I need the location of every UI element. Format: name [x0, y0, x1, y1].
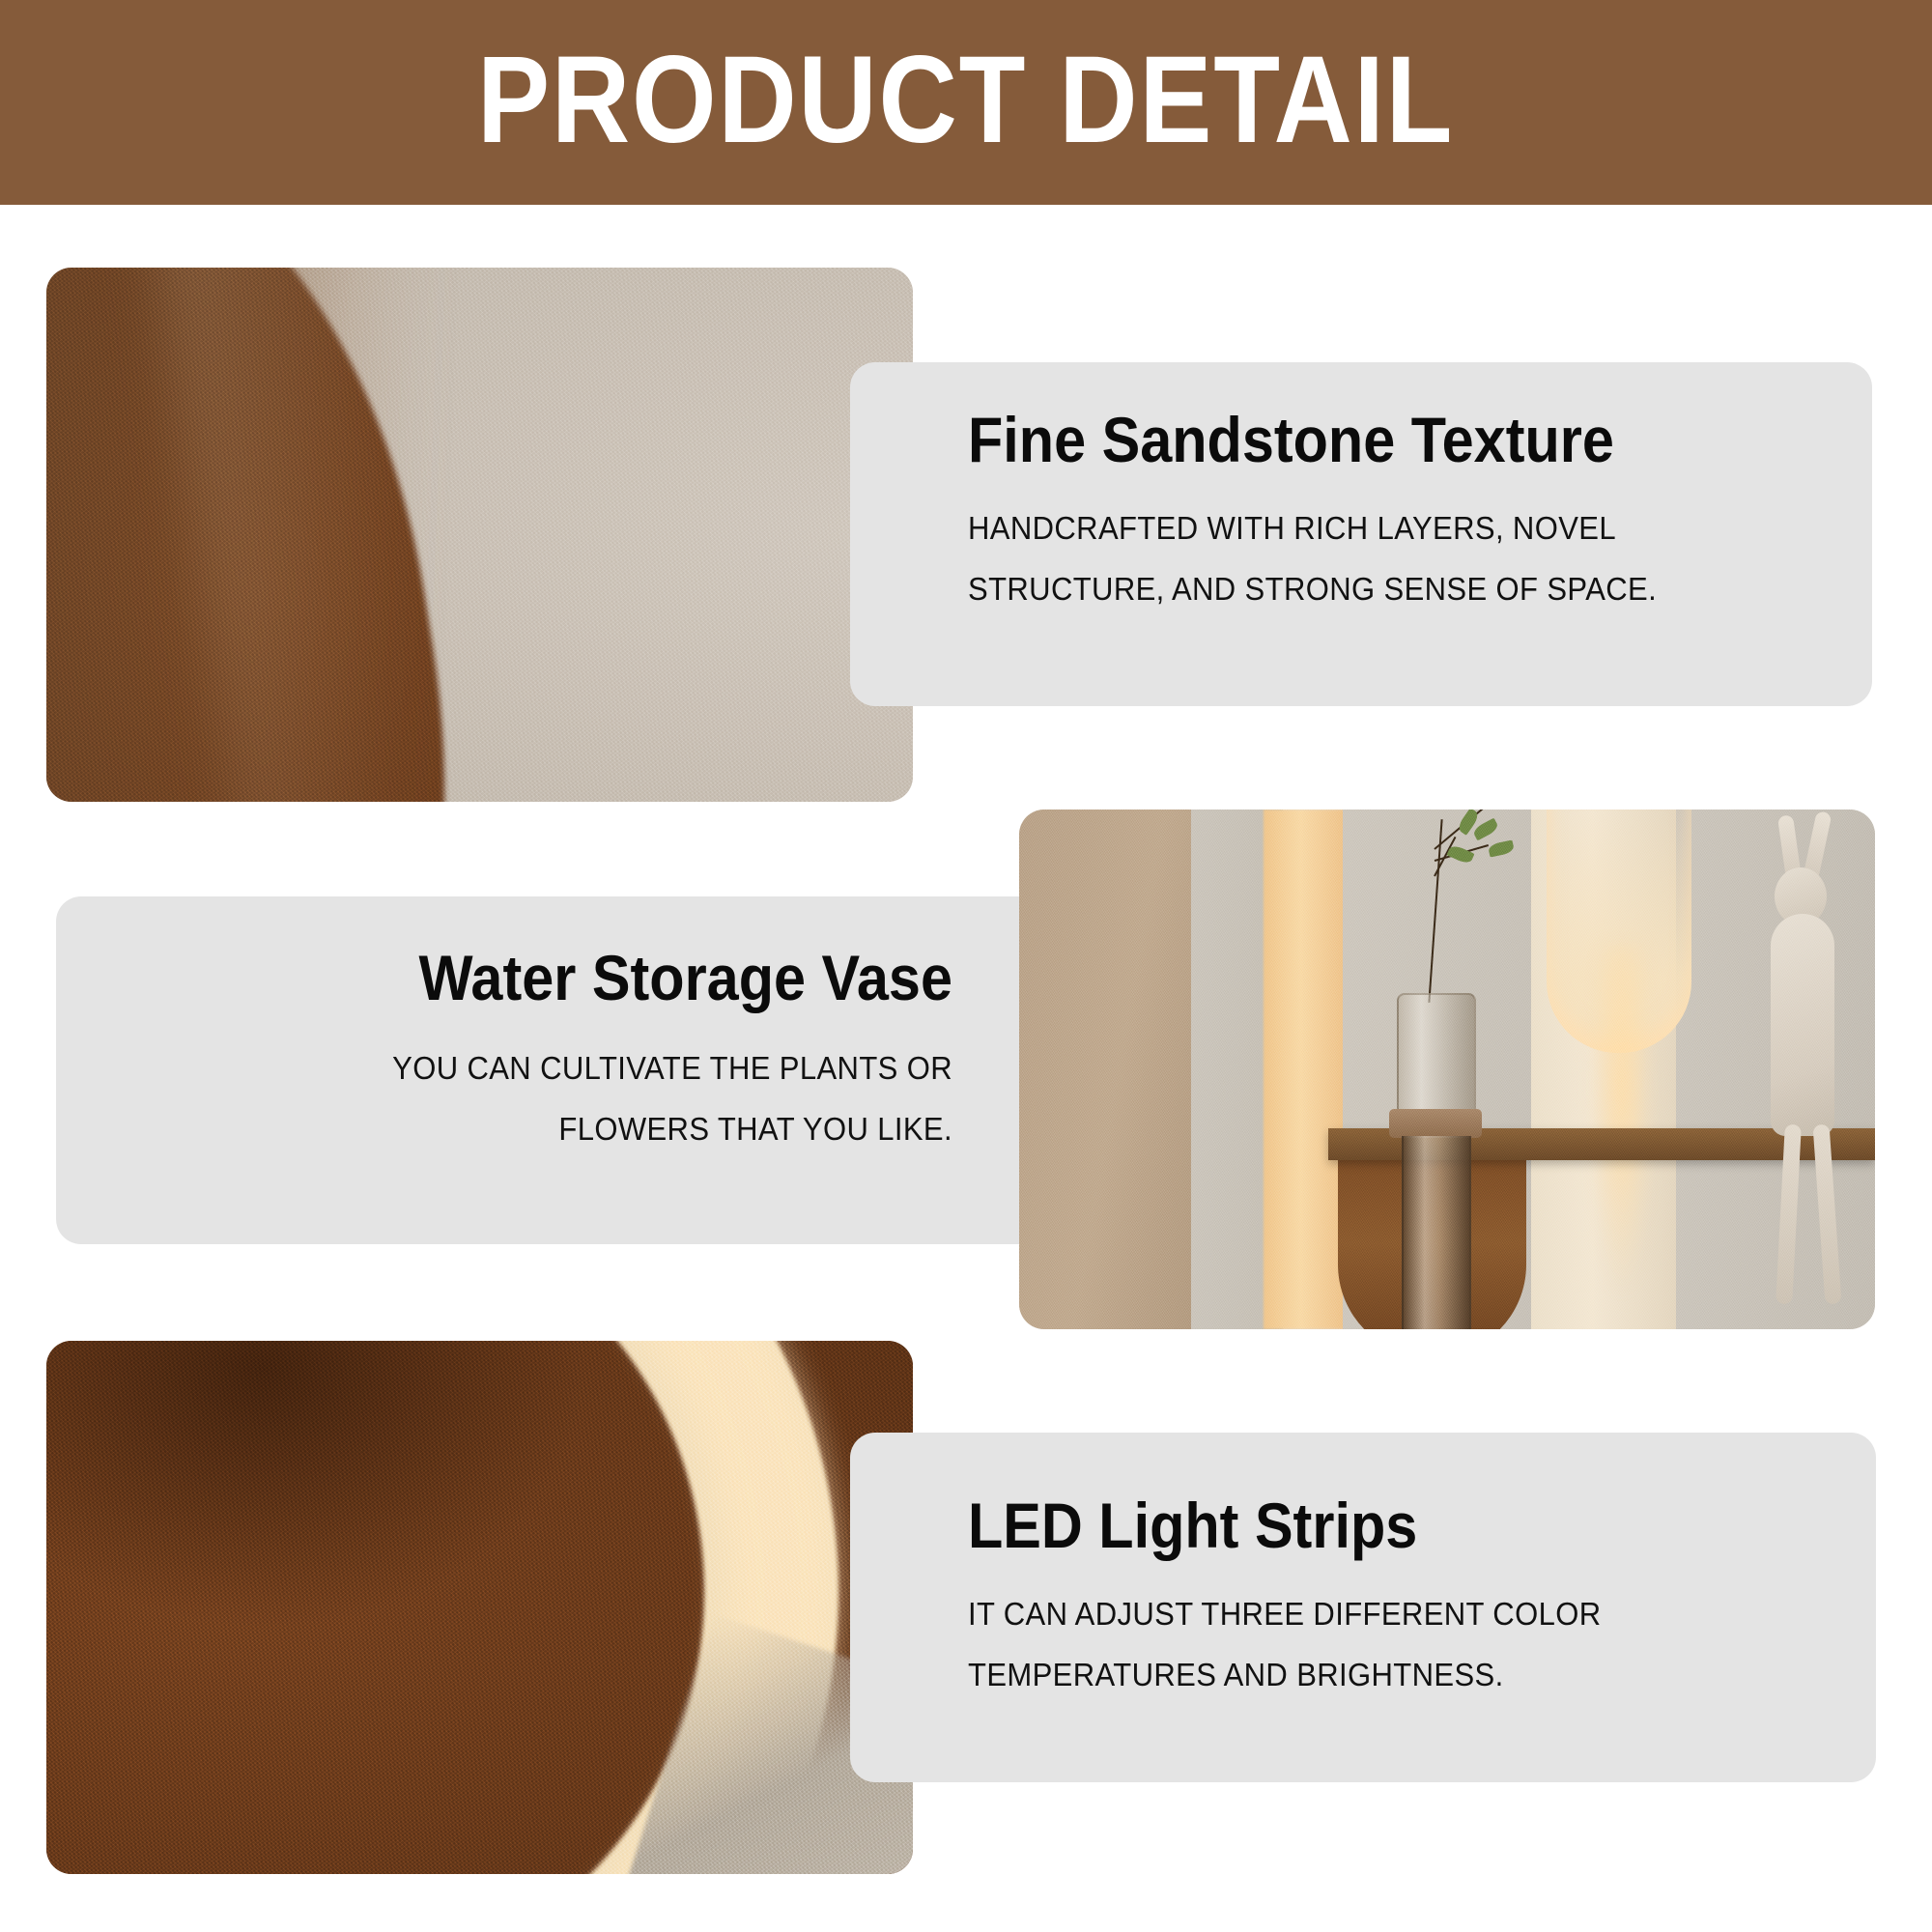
feature-panel-fine-sandstone-texture: Fine Sandstone Texture HANDCRAFTED WITH … [850, 362, 1872, 706]
feature-description-line-1: HANDCRAFTED WITH RICH LAYERS, NOVEL [968, 510, 1616, 546]
wall-texture-overlay [1019, 810, 1875, 1329]
feature-heading: LED Light Strips [968, 1492, 1735, 1559]
feature-image-led-light-strips [46, 1341, 913, 1874]
page-header-banner: PRODUCT DETAIL [0, 0, 1932, 205]
feature-description-line-2: TEMPERATURES AND BRIGHTNESS. [968, 1657, 1504, 1692]
feature-description: YOU CAN CULTIVATE THE PLANTS OR FLOWERS … [162, 1038, 952, 1159]
feature-heading: Water Storage Vase [196, 945, 952, 1011]
feature-description: IT CAN ADJUST THREE DIFFERENT COLOR TEMP… [968, 1584, 1769, 1705]
page-title: PRODUCT DETAIL [477, 39, 1454, 162]
feature-heading: Fine Sandstone Texture [968, 407, 1731, 473]
arc-cast-shadow [46, 1341, 587, 1631]
feature-description: HANDCRAFTED WITH RICH LAYERS, NOVEL STRU… [968, 498, 1765, 619]
feature-image-fine-sandstone-texture [46, 268, 913, 802]
feature-image-water-storage-vase [1019, 810, 1875, 1329]
left-shadow-gradient [46, 268, 913, 802]
feature-panel-water-storage-vase: Water Storage Vase YOU CAN CULTIVATE THE… [56, 896, 1080, 1244]
feature-description-line-2: STRUCTURE, AND STRONG SENSE OF SPACE. [968, 571, 1657, 607]
feature-description-line-1: IT CAN ADJUST THREE DIFFERENT COLOR [968, 1596, 1602, 1632]
feature-description-line-1: YOU CAN CULTIVATE THE PLANTS OR [392, 1050, 952, 1086]
feature-description-line-2: FLOWERS THAT YOU LIKE. [558, 1111, 952, 1147]
feature-panel-led-light-strips: LED Light Strips IT CAN ADJUST THREE DIF… [850, 1433, 1876, 1782]
